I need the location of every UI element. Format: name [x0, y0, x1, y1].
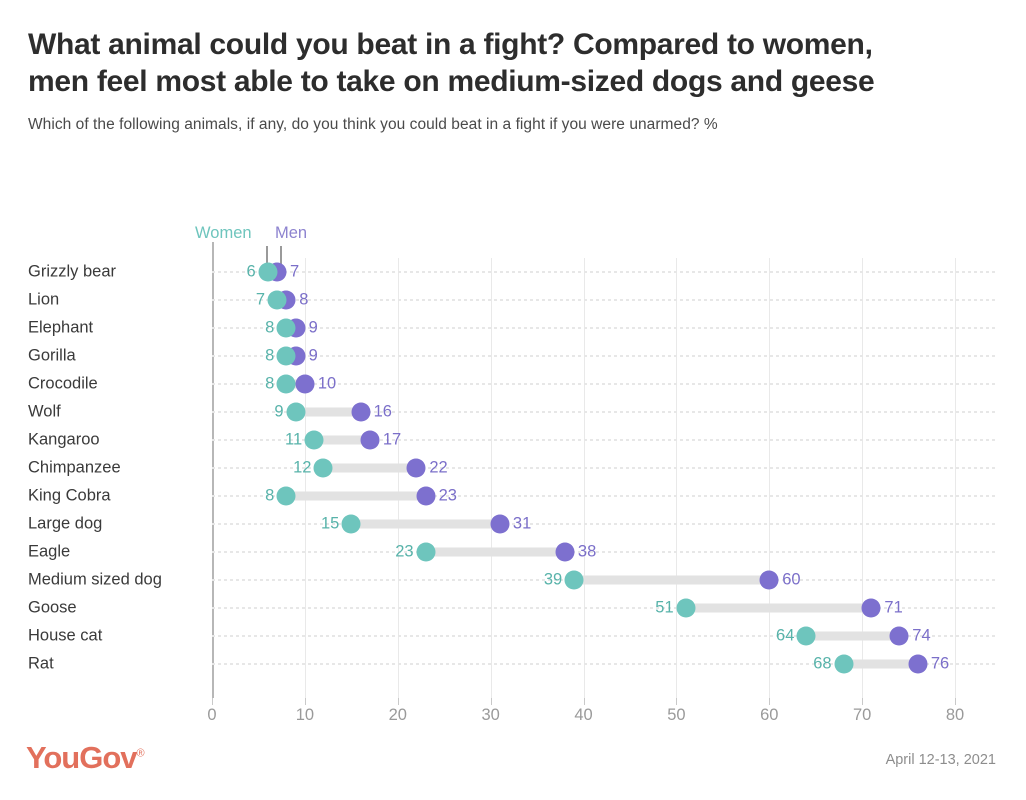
- data-point-men[interactable]: [295, 375, 314, 394]
- chart-subtitle: Which of the following animals, if any, …: [28, 116, 996, 134]
- tick-mark-40: [584, 698, 585, 705]
- chart-row: Grizzly bear67: [0, 258, 1026, 286]
- data-point-men[interactable]: [407, 459, 426, 478]
- page-title: What animal could you beat in a fight? C…: [28, 26, 928, 100]
- value-label-women: 51: [640, 599, 674, 618]
- connector-bar: [806, 632, 899, 641]
- value-label-men: 22: [429, 459, 447, 478]
- value-label-women: 68: [798, 655, 832, 674]
- chart-row: Goose5171: [0, 594, 1026, 622]
- tick-label-70: 70: [853, 706, 871, 725]
- data-point-women[interactable]: [342, 515, 361, 534]
- tick-label-0: 0: [207, 706, 216, 725]
- value-label-women: 12: [277, 459, 311, 478]
- tick-mark-60: [769, 698, 770, 705]
- category-label-large-dog: Large dog: [28, 515, 102, 534]
- chart-row: Crocodile810: [0, 370, 1026, 398]
- tick-mark-50: [676, 698, 677, 705]
- chart-row: Wolf916: [0, 398, 1026, 426]
- category-label-chimpanzee: Chimpanzee: [28, 459, 121, 478]
- connector-bar: [351, 520, 500, 529]
- tick-label-50: 50: [667, 706, 685, 725]
- legend-item-men: Men: [275, 224, 307, 243]
- tick-label-20: 20: [389, 706, 407, 725]
- data-point-men[interactable]: [908, 655, 927, 674]
- yougov-wordmark: YouGov: [26, 740, 137, 775]
- value-label-men: 10: [318, 375, 336, 394]
- value-label-women: 15: [305, 515, 339, 534]
- gridline-row: [212, 271, 998, 273]
- data-point-women[interactable]: [277, 375, 296, 394]
- chart-footer: YouGov® April 12-13, 2021: [0, 738, 1026, 778]
- data-point-women[interactable]: [314, 459, 333, 478]
- chart-row: House cat6474: [0, 622, 1026, 650]
- value-label-men: 74: [912, 627, 930, 646]
- data-point-men[interactable]: [360, 431, 379, 450]
- yougov-logo: YouGov®: [26, 740, 144, 776]
- x-axis: 01020304050607080: [0, 698, 1026, 728]
- category-label-house-cat: House cat: [28, 627, 102, 646]
- value-label-men: 17: [383, 431, 401, 450]
- chart-header: What animal could you beat in a fight? C…: [0, 0, 1026, 134]
- connector-bar: [286, 492, 425, 501]
- survey-date: April 12-13, 2021: [886, 752, 996, 768]
- value-label-men: 16: [374, 403, 392, 422]
- chart-row: Rat6876: [0, 650, 1026, 678]
- chart-row: Chimpanzee1222: [0, 454, 1026, 482]
- data-point-women[interactable]: [268, 291, 287, 310]
- tick-label-80: 80: [946, 706, 964, 725]
- chart-row: Elephant89: [0, 314, 1026, 342]
- value-label-women: 64: [760, 627, 794, 646]
- chart-row: Large dog1531: [0, 510, 1026, 538]
- data-point-men[interactable]: [490, 515, 509, 534]
- data-point-men[interactable]: [351, 403, 370, 422]
- data-point-men[interactable]: [760, 571, 779, 590]
- data-point-women[interactable]: [676, 599, 695, 618]
- chart-row: Lion78: [0, 286, 1026, 314]
- value-label-women: 9: [250, 403, 284, 422]
- connector-bar: [574, 576, 769, 585]
- value-label-women: 39: [528, 571, 562, 590]
- tick-label-40: 40: [574, 706, 592, 725]
- category-label-medium-sized-dog: Medium sized dog: [28, 571, 162, 590]
- data-point-women[interactable]: [277, 347, 296, 366]
- chart-row: Medium sized dog3960: [0, 566, 1026, 594]
- category-label-goose: Goose: [28, 599, 77, 618]
- data-point-men[interactable]: [555, 543, 574, 562]
- data-point-women[interactable]: [416, 543, 435, 562]
- tick-label-60: 60: [760, 706, 778, 725]
- gridline-row: [212, 299, 998, 301]
- value-label-men: 38: [578, 543, 596, 562]
- data-point-women[interactable]: [277, 487, 296, 506]
- data-point-women[interactable]: [834, 655, 853, 674]
- chart-legend: Women Men: [0, 222, 1026, 258]
- tick-label-10: 10: [296, 706, 314, 725]
- connector-bar: [844, 660, 918, 669]
- chart-rows: Grizzly bear67Lion78Elephant89Gorilla89C…: [0, 258, 1026, 678]
- value-label-women: 7: [231, 291, 265, 310]
- tick-mark-0: [212, 698, 213, 705]
- category-label-crocodile: Crocodile: [28, 375, 98, 394]
- value-label-men: 9: [309, 319, 318, 338]
- category-label-lion: Lion: [28, 291, 59, 310]
- category-label-elephant: Elephant: [28, 319, 93, 338]
- gridline-row: [212, 355, 998, 357]
- chart-row: Gorilla89: [0, 342, 1026, 370]
- data-point-men[interactable]: [890, 627, 909, 646]
- tick-label-30: 30: [481, 706, 499, 725]
- category-label-eagle: Eagle: [28, 543, 70, 562]
- value-label-women: 8: [240, 347, 274, 366]
- legend-item-women: Women: [195, 224, 252, 243]
- tick-mark-10: [305, 698, 306, 705]
- chart-plot-area: Women Men Grizzly bear67Lion78Elephant89…: [0, 222, 1026, 722]
- connector-bar: [323, 464, 416, 473]
- tick-mark-30: [491, 698, 492, 705]
- data-point-women[interactable]: [277, 319, 296, 338]
- value-label-women: 8: [240, 375, 274, 394]
- value-label-women: 23: [380, 543, 414, 562]
- value-label-women: 8: [240, 487, 274, 506]
- data-point-women[interactable]: [258, 263, 277, 282]
- data-point-men[interactable]: [416, 487, 435, 506]
- tick-mark-20: [398, 698, 399, 705]
- chart-row: Kangaroo1117: [0, 426, 1026, 454]
- connector-bar: [426, 548, 565, 557]
- registered-mark-icon: ®: [137, 748, 144, 760]
- connector-bar: [686, 604, 872, 613]
- data-point-women[interactable]: [286, 403, 305, 422]
- tick-mark-80: [955, 698, 956, 705]
- value-label-men: 31: [513, 515, 531, 534]
- category-label-gorilla: Gorilla: [28, 347, 76, 366]
- data-point-men[interactable]: [862, 599, 881, 618]
- tick-mark-70: [862, 698, 863, 705]
- value-label-men: 8: [299, 291, 308, 310]
- chart-row: Eagle2338: [0, 538, 1026, 566]
- chart-row: King Cobra823: [0, 482, 1026, 510]
- value-label-men: 60: [782, 571, 800, 590]
- value-label-women: 11: [268, 431, 302, 450]
- category-label-wolf: Wolf: [28, 403, 61, 422]
- value-label-men: 71: [884, 599, 902, 618]
- data-point-women[interactable]: [305, 431, 324, 450]
- category-label-grizzly-bear: Grizzly bear: [28, 263, 116, 282]
- data-point-women[interactable]: [797, 627, 816, 646]
- category-label-kangaroo: Kangaroo: [28, 431, 100, 450]
- gridline-row: [212, 327, 998, 329]
- value-label-men: 76: [931, 655, 949, 674]
- value-label-men: 23: [439, 487, 457, 506]
- data-point-women[interactable]: [565, 571, 584, 590]
- value-label-men: 9: [309, 347, 318, 366]
- category-label-rat: Rat: [28, 655, 54, 674]
- value-label-men: 7: [290, 263, 299, 282]
- gridline-row: [212, 551, 998, 553]
- value-label-women: 8: [240, 319, 274, 338]
- value-label-women: 6: [222, 263, 256, 282]
- category-label-king-cobra: King Cobra: [28, 487, 111, 506]
